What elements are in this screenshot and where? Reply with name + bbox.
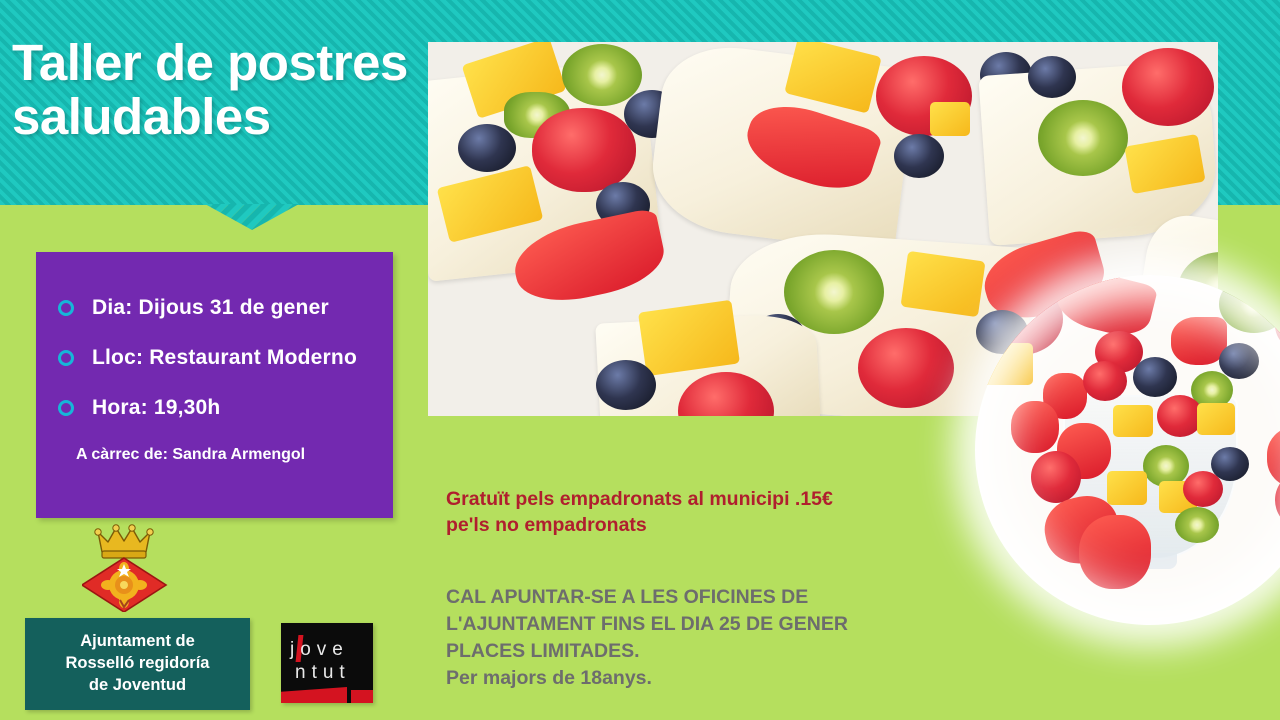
joventut-red-shape-right: [351, 690, 373, 703]
bullet-circle-icon: [58, 350, 74, 366]
header-banner-tail: [205, 204, 299, 230]
detail-row-lloc: Lloc: Restaurant Moderno: [36, 346, 393, 370]
rossello-coat-of-arms-icon: [82, 522, 174, 612]
ajuntament-logo-box: Ajuntament de Rosselló regidoría de Jove…: [25, 618, 250, 710]
price-note: Gratuït pels empadronats al municipi .15…: [446, 486, 976, 539]
detail-label-hora: Hora: 19,30h: [92, 396, 220, 420]
detail-row-dia: Dia: Dijous 31 de gener: [36, 296, 393, 320]
detail-row-hora: Hora: 19,30h: [36, 396, 393, 420]
fruit-salad-bowl-photo: [975, 275, 1280, 625]
detail-label-lloc: Lloc: Restaurant Moderno: [92, 346, 357, 370]
page-title: Taller de postres saludables: [12, 36, 422, 144]
joventut-text-line2: ntut: [295, 663, 351, 682]
event-details-box: Dia: Dijous 31 de gener Lloc: Restaurant…: [36, 252, 393, 518]
bullet-circle-icon: [58, 400, 74, 416]
joventut-text-line1: jove: [290, 640, 349, 659]
signup-note: CAL APUNTAR-SE A LES OFICINES DE L'AJUNT…: [446, 584, 986, 692]
detail-label-dia: Dia: Dijous 31 de gener: [92, 296, 329, 320]
joventut-red-shape-left: [281, 687, 347, 703]
joventut-logo: jove ntut: [281, 623, 373, 703]
presenter-label: A càrrec de: Sandra Armengol: [36, 446, 393, 464]
bullet-circle-icon: [58, 300, 74, 316]
